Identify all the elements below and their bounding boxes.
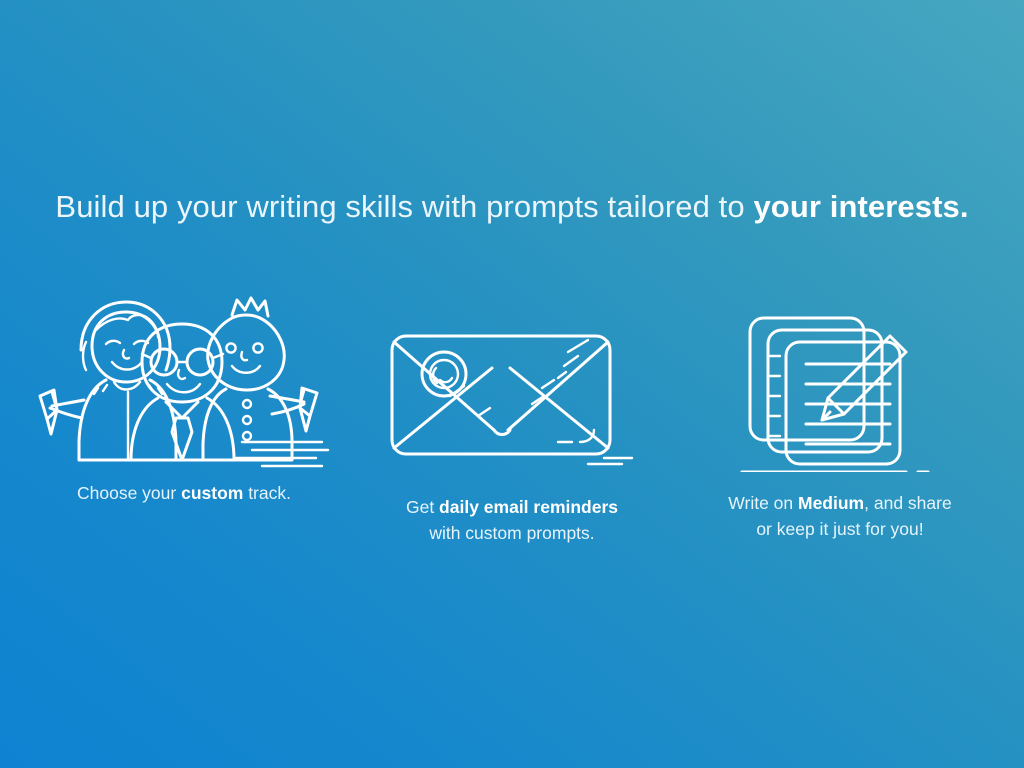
caption-bold: Medium [798,493,864,513]
caption-pre: Write on [728,493,798,513]
motion-lines [236,442,328,466]
caption-pre: Get [406,497,439,517]
feature-column-write-on-medium: Write on Medium, and share or keep it ju… [680,292,1000,542]
stacked-papers-with-pencil-illustration [730,302,950,472]
three-people-with-pencils-icon [36,292,336,472]
caption-post: , and share [864,493,952,513]
stacked-papers-with-pencil-icon [730,292,950,472]
headline-emphasis: your interests. [753,189,968,224]
three-people-with-pencils-illustration [36,292,336,472]
feature-caption-write-on-medium: Write on Medium, and share or keep it ju… [728,490,951,542]
feature-columns: Choose your custom track. [0,292,1024,546]
caption-line2: or keep it just for you! [756,519,923,539]
character-middle [131,324,234,460]
envelope-body [392,336,610,454]
caption-bold: daily email reminders [439,497,618,517]
envelope-with-clock-stamp-icon [382,292,642,472]
character-left [40,302,176,460]
paper-margin-ticks [768,356,780,436]
caption-pre: Choose your [77,483,181,503]
feature-column-email-reminders: Get daily email reminders with custom pr… [352,292,672,546]
feature-caption-custom-track: Choose your custom track. [77,480,291,506]
page-title: Build up your writing skills with prompt… [0,186,1024,228]
feature-caption-email-reminders: Get daily email reminders with custom pr… [406,494,618,546]
envelope-with-clock-stamp-illustration [382,312,642,472]
feature-column-custom-track: Choose your custom track. [24,292,344,506]
caption-line2: with custom prompts. [429,523,594,543]
headline-regular: Build up your writing skills with prompt… [55,189,753,224]
caption-bold: custom [181,483,243,503]
slide-canvas: Build up your writing skills with prompt… [0,0,1024,768]
caption-post: track. [243,483,291,503]
